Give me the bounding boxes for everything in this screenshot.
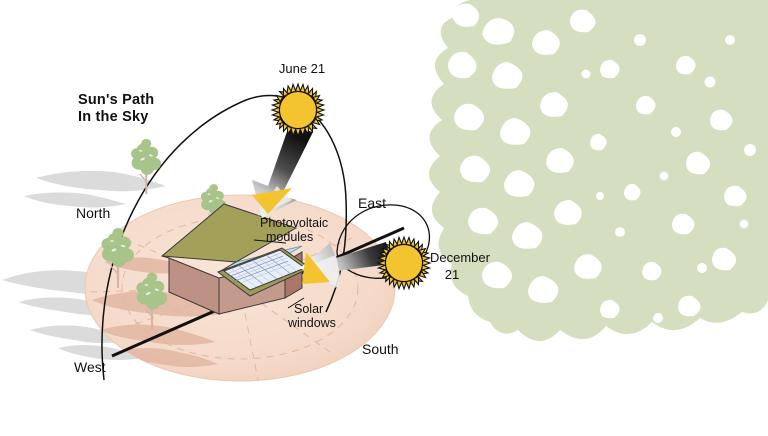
- diagram-title-line1: Sun's Path: [78, 92, 154, 108]
- compass-label-south: South: [362, 341, 399, 357]
- sun-label-december-line2: 21: [445, 267, 459, 282]
- background-foliage: [429, 0, 768, 341]
- sun-path-diagram: Sun's Path In the Sky June 21 December 2…: [0, 0, 768, 436]
- annotation-windows-line1: Solar: [294, 302, 323, 316]
- sun-label-june-21: June 21: [279, 61, 325, 76]
- annotation-pv-line1: Photovoltaic: [260, 216, 328, 230]
- compass-label-north: North: [76, 205, 110, 221]
- annotation-windows-line2: windows: [287, 316, 336, 330]
- sun-december-21: [378, 237, 430, 289]
- sun-june-21: [272, 84, 324, 136]
- sun-label-december-line1: December: [430, 250, 491, 265]
- compass-label-west: West: [74, 359, 106, 375]
- annotation-pv-line2: modules: [266, 230, 313, 244]
- compass-label-east: East: [358, 195, 386, 211]
- diagram-title-line2: In the Sky: [78, 109, 149, 125]
